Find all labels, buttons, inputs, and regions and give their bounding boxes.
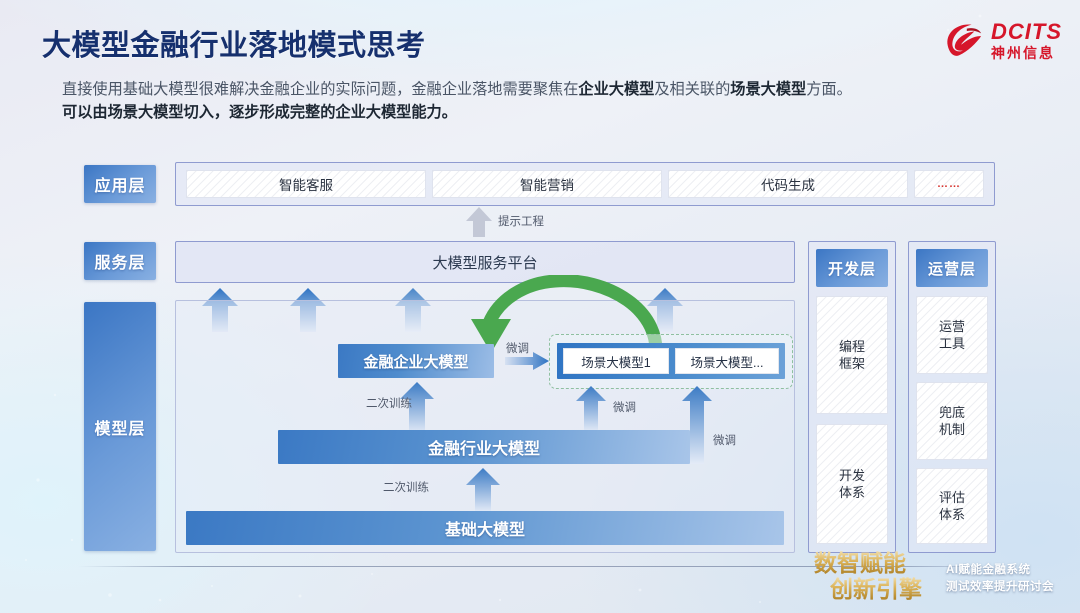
slogan-line-1: 数智赋能	[814, 550, 906, 576]
event-title-line-1: AI赋能金融系统	[946, 562, 1054, 579]
ellipsis-icon: ……	[937, 178, 961, 190]
dev-card-1-line2: 体系	[839, 484, 865, 501]
logo-en-text: DCITS	[991, 21, 1062, 43]
ops-card-1-line2: 机制	[939, 421, 965, 438]
dev-card-programming-framework[interactable]: 编程 框架	[816, 296, 888, 414]
retrain-label-2: 二次训练	[383, 479, 429, 495]
app-card-marketing[interactable]: 智能营销	[432, 170, 662, 198]
event-title: AI赋能金融系统 测试效率提升研讨会	[946, 562, 1054, 596]
subtitle-highlight-2: 场景大模型	[730, 81, 806, 98]
prompt-engineering-label: 提示工程	[498, 213, 544, 229]
scene-model-card-1[interactable]: 场景大模型1	[563, 348, 669, 374]
fine-tune-label-1: 微调	[506, 340, 529, 356]
retrain-arrow-icon-2	[466, 468, 500, 512]
fine-tune-label-2: 微调	[613, 399, 636, 415]
fine-tune-arrow-icon-2	[576, 386, 606, 432]
subtitle-highlight-1: 企业大模型	[578, 81, 654, 98]
app-card-customer-service[interactable]: 智能客服	[186, 170, 426, 198]
logo-cn-text: 神州信息	[991, 46, 1062, 60]
ops-card-evaluation-system[interactable]: 评估 体系	[916, 468, 988, 544]
industry-model-box[interactable]: 金融行业大模型	[278, 430, 690, 464]
dev-card-0-line2: 框架	[839, 355, 865, 372]
layer-tag-service: 服务层	[84, 242, 156, 280]
ops-card-1-line1: 兜底	[939, 404, 965, 421]
ops-card-0-line1: 运营	[939, 318, 965, 335]
page-title: 大模型金融行业落地模式思考	[42, 22, 426, 64]
subtitle-part-3: 方面。	[806, 81, 852, 98]
enterprise-model-box[interactable]: 金融企业大模型	[338, 344, 494, 378]
dcits-swirl-icon	[942, 20, 984, 60]
subtitle-part-1: 直接使用基础大模型很难解决金融企业的实际问题，金融企业落地需要聚焦在	[62, 81, 578, 98]
ops-card-2-line1: 评估	[939, 489, 965, 506]
layer-tag-application: 应用层	[84, 165, 156, 203]
retrain-label-1: 二次训练	[366, 395, 412, 411]
scene-model-card-2[interactable]: 场景大模型...	[675, 348, 779, 374]
slogan-line-2: 创新引擎	[829, 576, 922, 602]
subtitle-part-2: 及相关联的	[654, 81, 730, 98]
ops-card-0-line2: 工具	[939, 335, 965, 352]
prompt-engineering-arrow-icon	[466, 207, 492, 237]
development-layer-header: 开发层	[816, 249, 888, 287]
ops-card-2-line2: 体系	[939, 506, 965, 523]
app-card-more[interactable]: ……	[914, 170, 984, 198]
layer-tag-model: 模型层	[84, 302, 156, 551]
page-subtitle: 直接使用基础大模型很难解决金融企业的实际问题，金融企业落地需要聚焦在企业大模型及…	[62, 78, 1002, 124]
event-title-line-2: 测试效率提升研讨会	[946, 579, 1054, 596]
dev-card-1-line1: 开发	[839, 467, 865, 484]
fine-tune-label-3: 微调	[713, 432, 736, 448]
dev-card-development-system[interactable]: 开发 体系	[816, 424, 888, 544]
company-logo: DCITS 神州信息	[942, 20, 1062, 60]
base-model-box[interactable]: 基础大模型	[186, 511, 784, 545]
operation-layer-header: 运营层	[916, 249, 988, 287]
subtitle-line-2: 可以由场景大模型切入，逐步形成完整的企业大模型能力。	[62, 104, 457, 121]
ops-card-fallback-mechanism[interactable]: 兜底 机制	[916, 382, 988, 460]
app-card-code-generation[interactable]: 代码生成	[668, 170, 908, 198]
dev-card-0-line1: 编程	[839, 338, 865, 355]
ops-card-operation-tools[interactable]: 运营 工具	[916, 296, 988, 374]
